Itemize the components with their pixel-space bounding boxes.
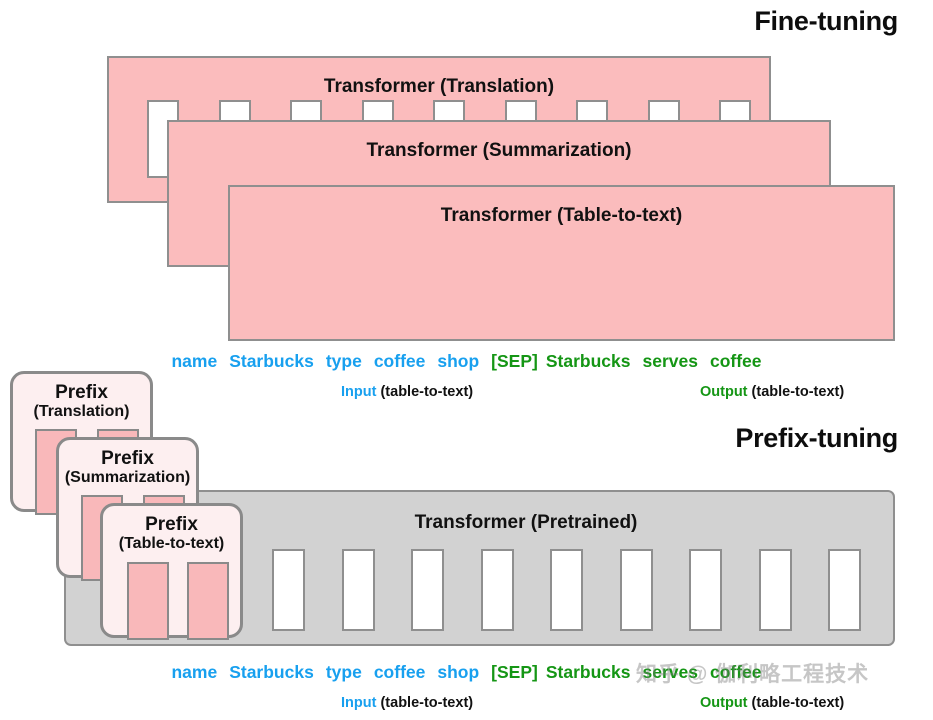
prefix-slot	[127, 562, 169, 640]
prefix-card-table-to-text-line2: (Table-to-text)	[103, 535, 240, 553]
prefix-slot	[187, 562, 229, 640]
token-slot	[481, 549, 514, 631]
prefix-card-translation-title: Prefix (Translation)	[13, 382, 150, 421]
prefix-card-summarization-line1: Prefix	[59, 448, 196, 469]
token-slot	[411, 549, 444, 631]
prefix-card-translation-line1: Prefix	[13, 382, 150, 403]
token-slot	[759, 549, 792, 631]
prefix-card-summarization-line2: (Summarization)	[59, 469, 196, 487]
token-slot	[828, 549, 861, 631]
token-slot	[342, 549, 375, 631]
token-slot	[620, 549, 653, 631]
token-slot	[550, 549, 583, 631]
prefix-card-table-to-text-line1: Prefix	[103, 514, 240, 535]
token-slot	[272, 549, 305, 631]
prefix-card-summarization-title: Prefix (Summarization)	[59, 448, 196, 487]
prefix-card-translation-line2: (Translation)	[13, 403, 150, 421]
prefix-card-table-to-text: Prefix (Table-to-text)	[100, 503, 243, 638]
figure-canvas: Fine-tuning Transformer (Translation) Tr…	[0, 0, 933, 720]
token-slot	[689, 549, 722, 631]
prefix-card-table-to-text-title: Prefix (Table-to-text)	[103, 514, 240, 553]
